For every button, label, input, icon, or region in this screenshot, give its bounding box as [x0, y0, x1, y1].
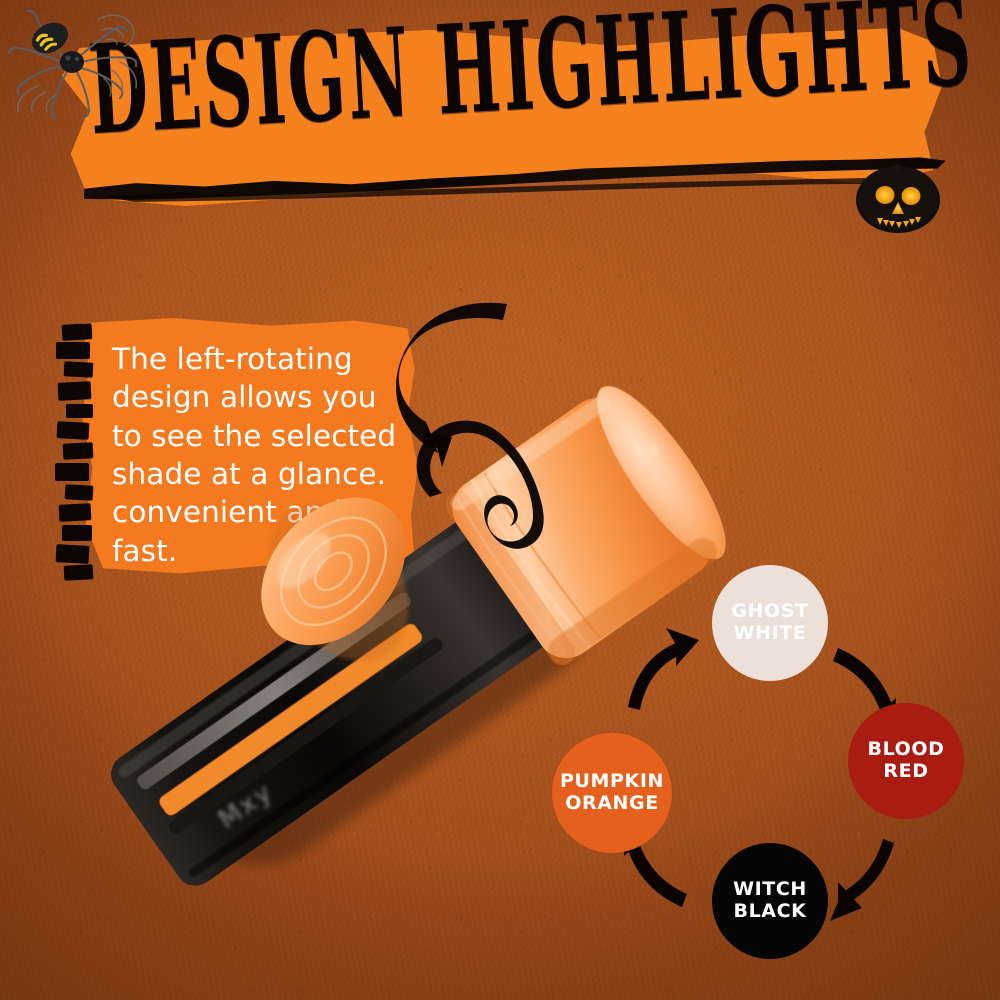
swatch-pumpkin-orange[interactable]: PUMPKIN ORANGE	[552, 733, 672, 853]
swatch-witch-black-label-line2: BLACK	[733, 901, 807, 923]
infographic-canvas: DESIGN HIGHLIGHTS	[0, 0, 1000, 1000]
swatch-pumpkin-orange-label-line2: ORANGE	[560, 793, 664, 815]
swatch-pumpkin-orange-label-line1: PUMPKIN	[560, 771, 664, 793]
jack-o-lantern-icon	[852, 162, 944, 234]
header-banner: DESIGN HIGHLIGHTS	[62, 22, 942, 222]
curved-arrow-icon-right-to-bottom	[830, 839, 894, 921]
swatch-witch-black[interactable]: WITCH BLACK	[712, 843, 828, 959]
spider-icon	[2, 0, 152, 120]
curved-arrow-icon-left-to-top	[628, 628, 699, 710]
color-cycle-diagram: GHOST WHITE BLOOD RED WITCH BLACK PUMPKI…	[530, 555, 990, 995]
swatch-ghost-white-label-line2: WHITE	[731, 623, 808, 645]
swatch-ghost-white[interactable]: GHOST WHITE	[712, 565, 828, 681]
swatch-blood-red[interactable]: BLOOD RED	[848, 703, 964, 819]
swatch-blood-red-label-line1: BLOOD	[868, 739, 945, 761]
swatch-ghost-white-label-line1: GHOST	[731, 601, 808, 623]
swatch-witch-black-label-line1: WITCH	[733, 879, 807, 901]
swatch-blood-red-label-line2: RED	[868, 761, 945, 783]
